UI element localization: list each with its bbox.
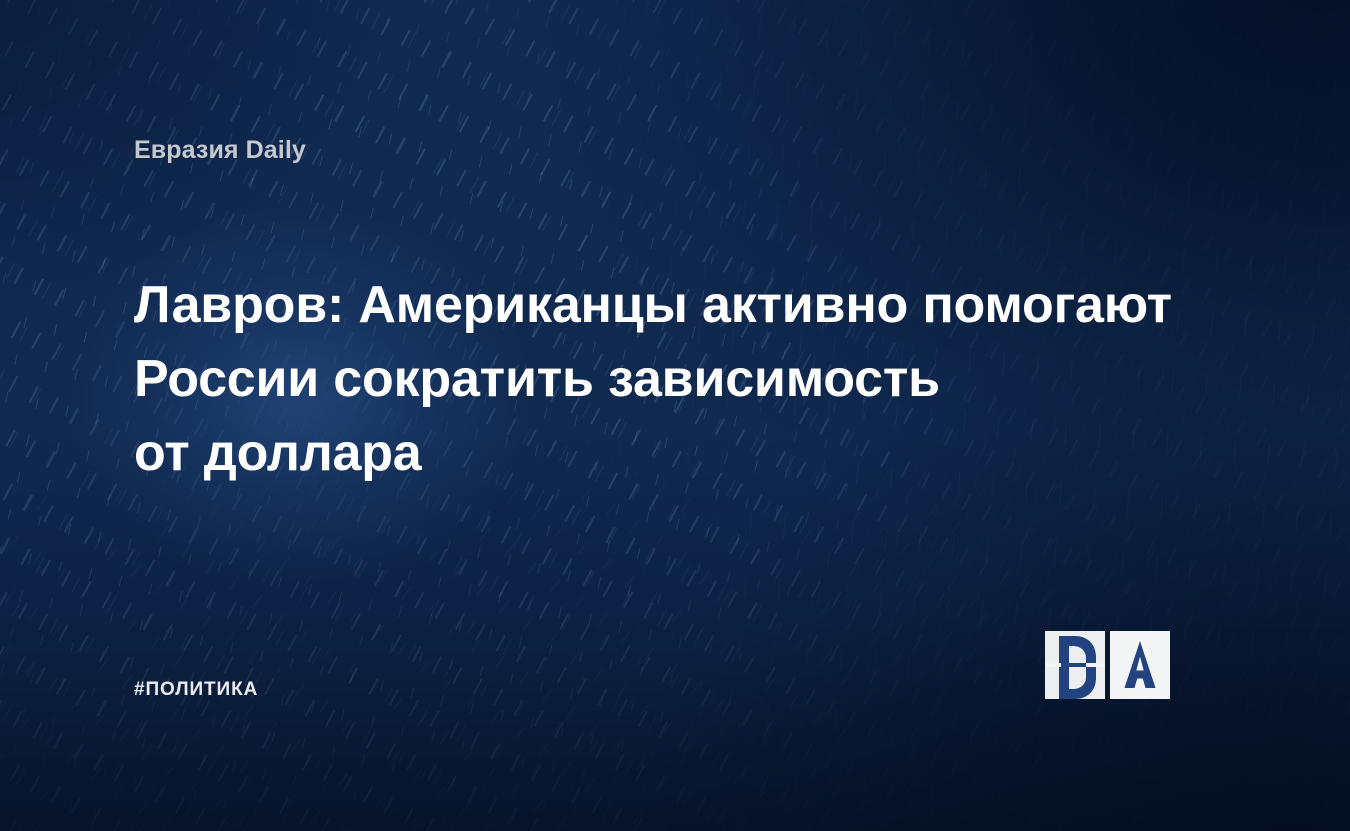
headline-line-1: Лавров: Американцы активно помогают [134,268,1264,342]
logo-tile-d-bottom [1045,667,1105,699]
news-card: Евразия Daily Лавров: Американцы активно… [0,0,1350,831]
headline: Лавров: Американцы активно помогают Росс… [134,268,1264,490]
logo-tile-d-top [1045,631,1105,663]
logo-tile-d [1175,631,1235,699]
headline-line-2: России сократить зависимость [134,342,1264,416]
logo-letter-d-bottom-icon [1045,667,1105,699]
logo-letter-a-icon [1110,631,1170,699]
logo-letter-d-top-icon [1045,631,1105,663]
logo-tile-a [1110,631,1170,699]
brand-name: Евразия Daily [134,136,306,165]
category-hashtag[interactable]: #ПОЛИТИКА [134,679,258,701]
card-content: Евразия Daily Лавров: Американцы активно… [0,0,1350,831]
headline-line-3: от доллара [134,416,1264,490]
eadaily-logo [1045,631,1235,699]
